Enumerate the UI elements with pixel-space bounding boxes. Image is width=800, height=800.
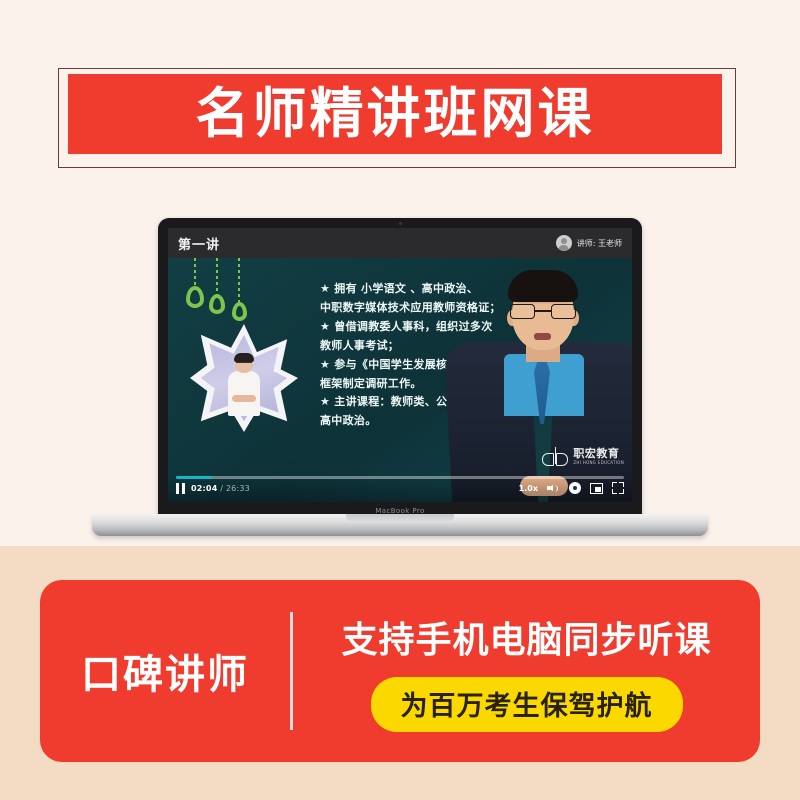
- laptop-mockup: 第一讲 讲师: 王老师: [92, 218, 708, 544]
- current-time: 02:04: [191, 484, 217, 493]
- picture-in-picture-icon[interactable]: [590, 483, 603, 494]
- fullscreen-icon[interactable]: [612, 482, 624, 494]
- user-avatar-icon: [556, 235, 572, 251]
- star-thumbnail: [190, 324, 298, 432]
- bottom-banner-left-text: 口碑讲师: [40, 642, 290, 700]
- laptop-lid: 第一讲 讲师: 王老师: [158, 218, 642, 518]
- lesson-title: 第一讲: [178, 234, 220, 253]
- time-display: 02:04 / 26:33: [191, 484, 250, 493]
- controls-right-group: 1.0x: [519, 482, 624, 494]
- hanging-ornaments-decoration: [188, 258, 268, 328]
- header-banner: 名师精讲班网课: [68, 74, 722, 154]
- video-topbar: 第一讲 讲师: 王老师: [168, 228, 632, 258]
- video-controls-bar[interactable]: 02:04 / 26:33 1.0x: [168, 476, 632, 502]
- ornament-icon: [194, 258, 196, 288]
- presenter-figure: [442, 270, 632, 502]
- teacher-block: 讲师: 王老师: [556, 235, 622, 251]
- playback-speed[interactable]: 1.0x: [519, 484, 538, 493]
- laptop-notch: [346, 514, 454, 523]
- controls-left-group: 02:04 / 26:33: [176, 483, 250, 494]
- bottom-banner-headline: 支持手机电脑同步听课: [341, 611, 711, 663]
- open-book-icon: [542, 447, 568, 466]
- total-time: 26:33: [226, 484, 250, 493]
- watermark-logo: 职宏教育 ZHI HONG EDUCATION: [542, 447, 624, 466]
- poster-canvas: 名师精讲班网课 第一讲 讲师: 王老师: [0, 0, 800, 800]
- watermark-name: 职宏教育: [573, 448, 624, 460]
- bottom-banner-pill: 为百万考生保驾护航: [371, 677, 683, 732]
- gear-icon[interactable]: [569, 482, 581, 494]
- bottom-banner-right-group: 支持手机电脑同步听课 为百万考生保驾护航: [293, 611, 760, 732]
- teacher-label: 讲师: 王老师: [577, 238, 622, 249]
- ornament-icon: [216, 258, 218, 296]
- page-title: 名师精讲班网课: [196, 87, 595, 141]
- ornament-icon: [238, 258, 240, 304]
- volume-icon[interactable]: [547, 483, 560, 494]
- watermark-subtitle: ZHI HONG EDUCATION: [573, 460, 624, 465]
- progress-bar[interactable]: [176, 476, 624, 479]
- progress-fill: [176, 476, 212, 479]
- laptop-camera-icon: [399, 222, 402, 225]
- pause-icon[interactable]: [176, 483, 185, 494]
- time-separator: /: [217, 484, 225, 493]
- bottom-banner: 口碑讲师 支持手机电脑同步听课 为百万考生保驾护航: [40, 580, 760, 762]
- video-player[interactable]: 第一讲 讲师: 王老师: [168, 228, 632, 502]
- thumbnail-person: [225, 354, 263, 416]
- lecture-slide: ★ 拥有 小学语文 、高中政治、 中职数字媒体技术应用教师资格证； ★ 曾借调教…: [168, 258, 632, 502]
